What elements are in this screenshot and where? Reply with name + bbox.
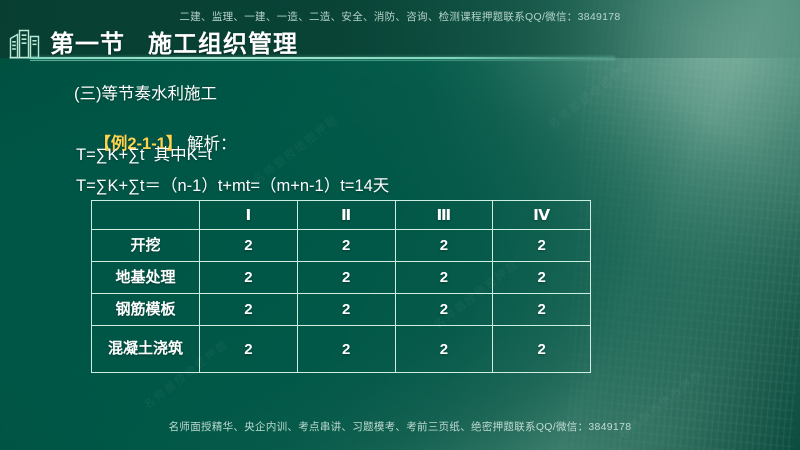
table-header: Ⅰ Ⅱ Ⅲ Ⅳ [92, 201, 591, 230]
footer-promo-note: 名师面授精华、央企内训、考点串讲、习题模考、考前三页纸、绝密押题联系QQ/微信：… [0, 419, 800, 434]
slide-canvas: 名师面授绝密押题 名师面授绝密押题 名师面授绝密押题 名师面授绝密押题 名师面授… [0, 0, 800, 450]
table-cell: 2 [395, 326, 493, 373]
table-cell: 2 [200, 326, 298, 373]
header-divider [30, 57, 615, 59]
table-cell: 2 [493, 230, 591, 262]
building-icon [9, 26, 41, 59]
header-divider-shadow [30, 60, 615, 61]
table-cell: 2 [395, 262, 493, 294]
table-row-label: 混凝土浇筑 [92, 326, 200, 373]
table-cell: 2 [493, 294, 591, 326]
formula-line-2: T=∑K+∑t＝（n-1）t+mt=（m+n-1）t=14天 [76, 172, 389, 196]
table-row-label: 钢筋模板 [92, 294, 200, 326]
table-cell: 2 [297, 326, 395, 373]
table-row-label: 地基处理 [92, 262, 200, 294]
table-row: 混凝土浇筑 2 2 2 2 [92, 326, 591, 373]
page-title: 第一节 施工组织管理 [50, 24, 298, 59]
table-header-cell-corner [92, 201, 200, 230]
table-cell: 2 [200, 262, 298, 294]
table-row: 地基处理 2 2 2 2 [92, 262, 591, 294]
formula-line-1: T=∑K+∑t 其中K=t [76, 141, 212, 165]
table-cell: 2 [395, 294, 493, 326]
table-header-cell-3: Ⅲ [395, 201, 493, 230]
table-cell: 2 [297, 230, 395, 262]
table-cell: 2 [297, 262, 395, 294]
table-header-cell-2: Ⅱ [297, 201, 395, 230]
table-header-cell-1: Ⅰ [200, 201, 298, 230]
section-subheading: (三)等节奏水利施工 [74, 80, 217, 104]
table-cell: 2 [493, 262, 591, 294]
table-cell: 2 [493, 326, 591, 373]
table-row: 钢筋模板 2 2 2 2 [92, 294, 591, 326]
schedule-table: Ⅰ Ⅱ Ⅲ Ⅳ 开挖 2 2 2 2 地基处理 2 2 2 2 钢筋模板 [91, 200, 591, 373]
header-promo-note: 二建、监理、一建、一造、二造、安全、消防、咨询、检测课程押题联系QQ/微信：38… [0, 9, 800, 24]
table-header-row: Ⅰ Ⅱ Ⅲ Ⅳ [92, 201, 591, 230]
table-row-label: 开挖 [92, 230, 200, 262]
table-row: 开挖 2 2 2 2 [92, 230, 591, 262]
table-cell: 2 [297, 294, 395, 326]
table-cell: 2 [395, 230, 493, 262]
table-header-cell-4: Ⅳ [493, 201, 591, 230]
table-body: 开挖 2 2 2 2 地基处理 2 2 2 2 钢筋模板 2 2 2 2 混 [92, 230, 591, 373]
table-cell: 2 [200, 294, 298, 326]
table-cell: 2 [200, 230, 298, 262]
